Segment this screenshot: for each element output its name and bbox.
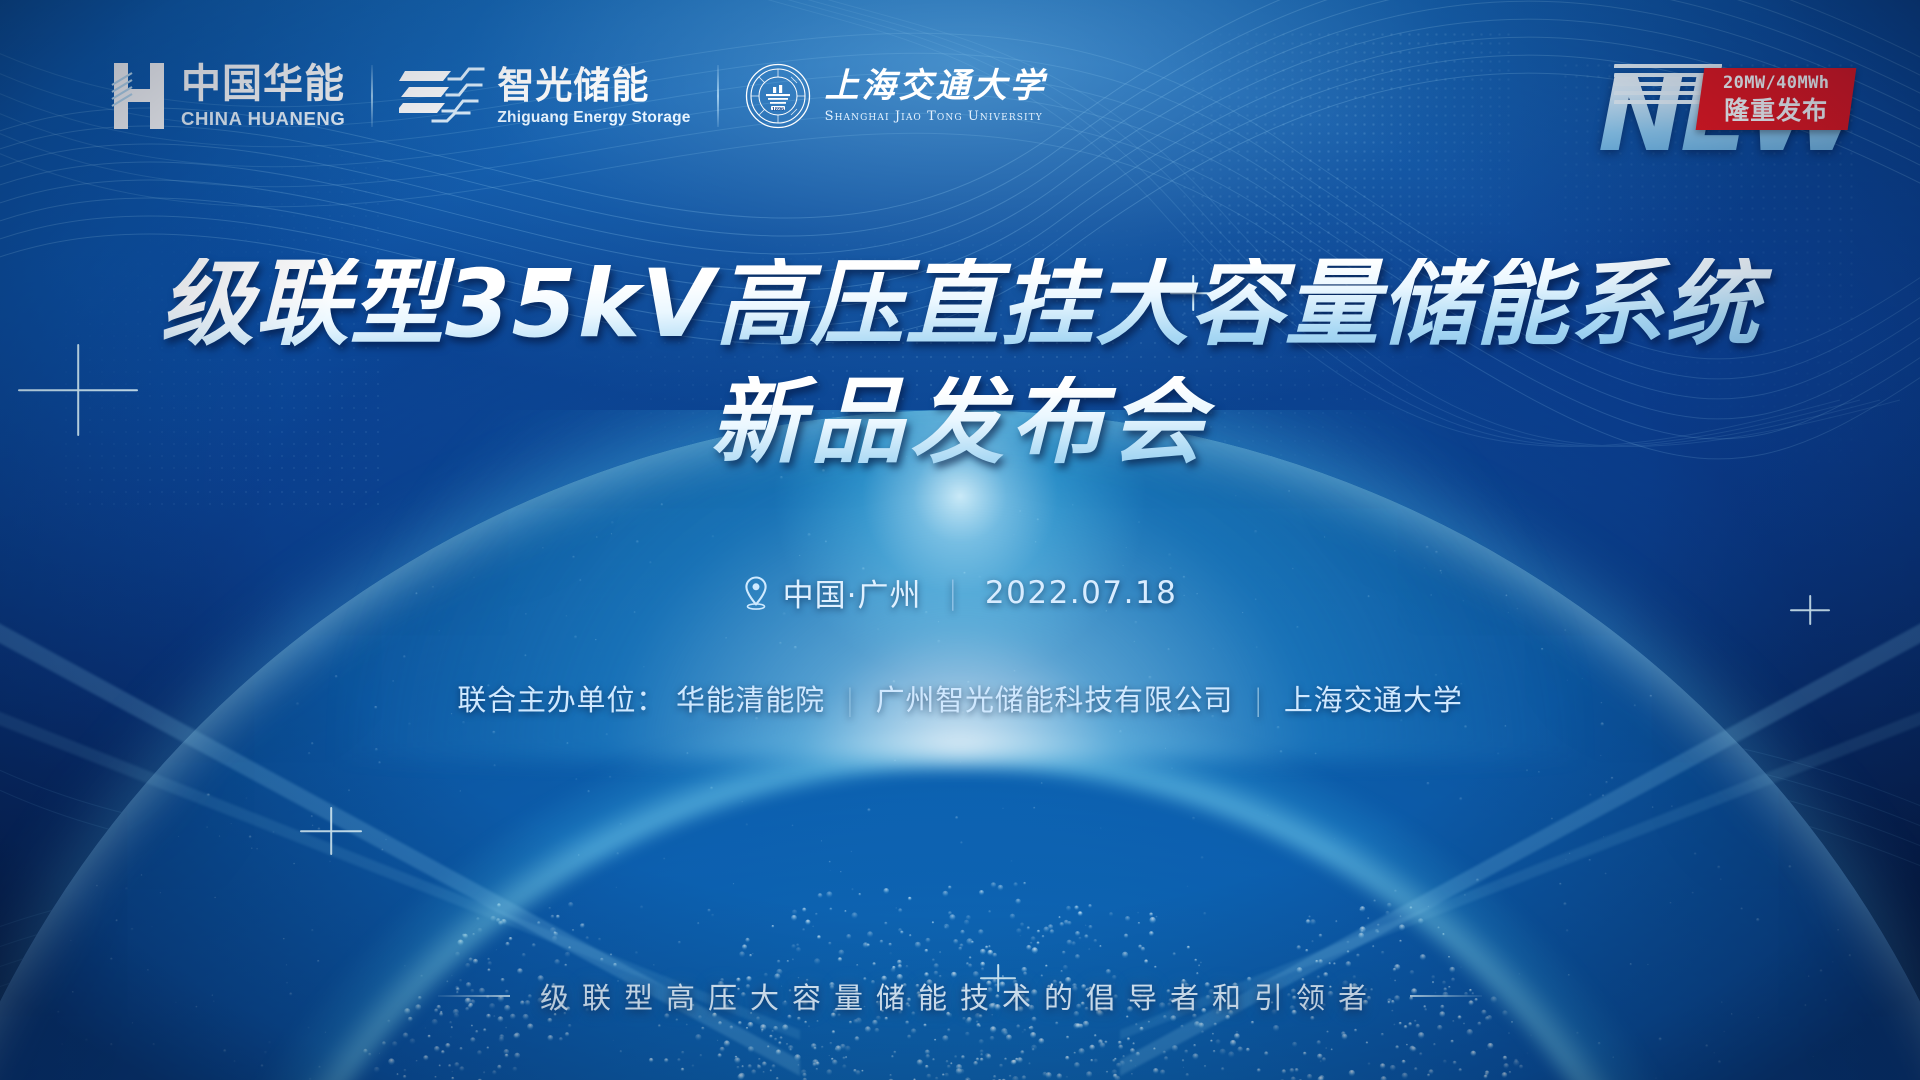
huaneng-name-en: CHINA HUANENG xyxy=(181,110,345,129)
badge-capacity-text: 20MW/40MWh xyxy=(1723,75,1829,92)
tagline-dash-left xyxy=(438,995,510,997)
badge-release-text: 隆重发布 xyxy=(1723,98,1829,123)
location-pin-icon xyxy=(743,576,769,610)
organizer-item: 华能清能院 xyxy=(676,683,825,717)
partner-logo-bar: 中国华能 CHINA HUANENG xyxy=(110,52,1047,140)
logo-china-huaneng: 中国华能 CHINA HUANENG xyxy=(110,63,345,129)
organizer-item: 上海交通大学 xyxy=(1284,683,1463,717)
event-date: 2022.07.18 xyxy=(985,575,1178,611)
meta-separator: | xyxy=(947,575,958,611)
banner-title-block: 级联型35kV高压直挂大容量储能系统 新品发布会 xyxy=(0,258,1920,470)
event-meta-row: 中国·广州 | 2022.07.18 xyxy=(0,570,1920,615)
new-release-badge: NEW 20MW/40MWh 隆重发布 xyxy=(1598,48,1848,176)
organizer-separator: | xyxy=(845,683,856,717)
event-banner: 中国华能 CHINA HUANENG xyxy=(0,0,1920,1080)
tagline-text: 级联型高压大容量储能技术的倡导者和引领者 xyxy=(540,975,1380,1017)
page-title-line-1: 级联型35kV高压直挂大容量储能系统 xyxy=(0,258,1920,352)
sjtu-seal-icon: 1896 xyxy=(745,63,811,129)
organizers-row: 联合主办单位： 华能清能院 | 广州智光储能科技有限公司 | 上海交通大学 xyxy=(0,677,1920,719)
sjtu-name-en: Shanghai Jiao Tong University xyxy=(825,110,1047,123)
tagline-row: 级联型高压大容量储能技术的倡导者和引领者 xyxy=(0,975,1920,1017)
logo-divider xyxy=(371,65,373,127)
organizer-item: 广州智光储能科技有限公司 xyxy=(876,683,1234,717)
logo-divider xyxy=(717,65,719,127)
zhiguang-name-en: Zhiguang Energy Storage xyxy=(497,110,690,126)
huaneng-h-mark-icon xyxy=(110,63,168,129)
huaneng-name-cn: 中国华能 xyxy=(181,64,345,104)
logo-zhiguang-energy-storage: 智光储能 Zhiguang Energy Storage xyxy=(399,67,690,126)
sjtu-name-cn: 上海交通大学 xyxy=(825,69,1047,103)
zhiguang-name-cn: 智光储能 xyxy=(497,67,690,104)
organizers-label: 联合主办单位： xyxy=(457,683,666,717)
page-title-line-2: 新品发布会 xyxy=(0,376,1920,470)
tagline-dash-right xyxy=(1410,995,1482,997)
new-badge-red-tag: 20MW/40MWh 隆重发布 xyxy=(1696,68,1857,130)
organizer-separator: | xyxy=(1253,683,1264,717)
zhiguang-arrows-mark-icon xyxy=(399,67,485,125)
event-city: 中国·广州 xyxy=(783,570,922,615)
logo-shanghai-jiao-tong-university: 1896 上海交通大学 Shanghai Jiao Tong Universit… xyxy=(745,63,1047,129)
